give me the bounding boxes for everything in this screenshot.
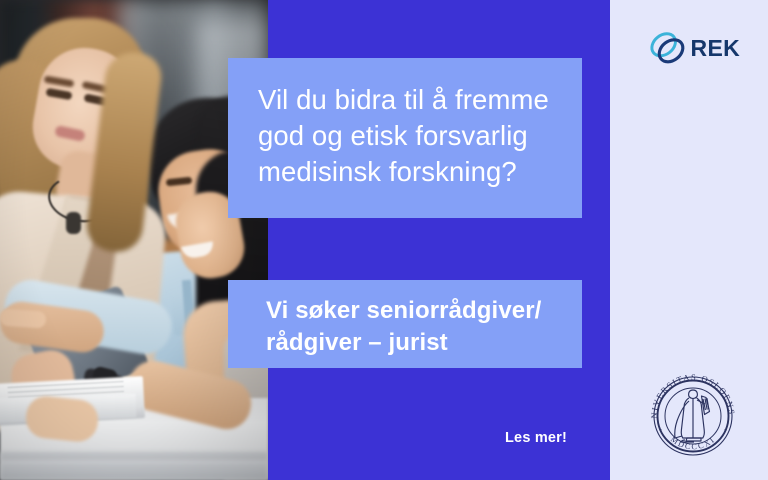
uio-seal: UNIVERSITAS OSLOENSIS MDCCCXI [645, 368, 741, 464]
read-more-link[interactable]: Les mer! [505, 430, 567, 446]
job-title-box: Vi søker seniorrådgiver/ rådgiver – juri… [228, 280, 582, 368]
headline-line-1: Vil du bidra til å fremme [258, 82, 554, 118]
rek-interlocking-rings-icon [648, 27, 689, 69]
headline-line-2: god og etisk forsvarlig [258, 118, 554, 154]
rek-logo[interactable]: REK [648, 26, 740, 70]
headline-question-box: Vil du bidra til å fremme god og etisk f… [228, 58, 582, 218]
rek-wordmark: REK [691, 37, 740, 60]
uio-seal-outer-text: UNIVERSITAS OSLOENSIS [645, 368, 736, 419]
headline-line-3: medisinsk forskning? [258, 154, 554, 190]
uio-seal-icon: UNIVERSITAS OSLOENSIS MDCCCXI [645, 368, 741, 464]
job-title-line-2: rådgiver – jurist [266, 327, 554, 359]
recruitment-banner: Vil du bidra til å fremme god og etisk f… [0, 0, 768, 480]
job-title-line-1: Vi søker seniorrådgiver/ [266, 295, 554, 327]
